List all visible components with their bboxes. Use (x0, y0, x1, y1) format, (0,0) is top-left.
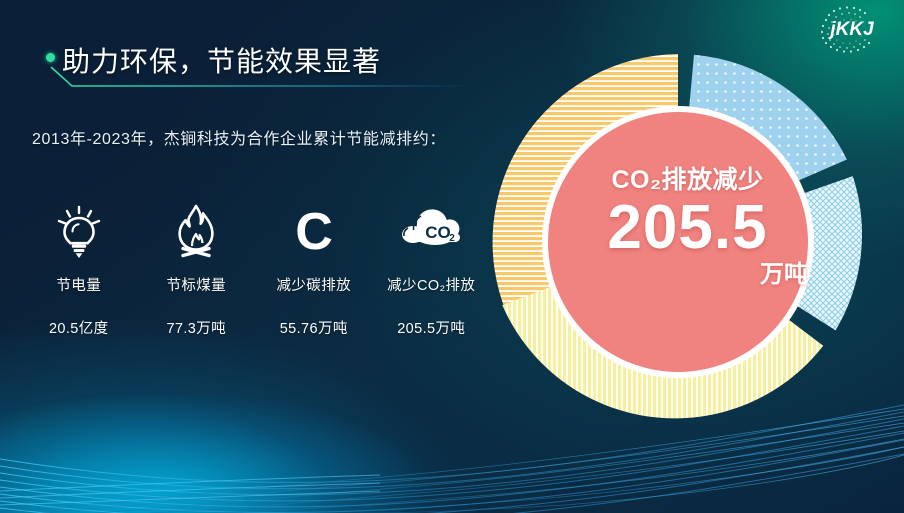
stat-item-co2-reduction: CO 2 减少CO₂排放 205.5万吨 (373, 200, 491, 338)
stat-value: 20.5亿度 (20, 317, 138, 338)
slide-canvas: jKKJ 助力环保，节能效果显著 2013年-2023年，杰锏科技为合作企业累计… (0, 0, 904, 513)
stat-value: 205.5万吨 (373, 317, 491, 338)
stat-label: 减少CO₂排放 (373, 274, 491, 295)
donut-center-disc (548, 112, 808, 372)
page-title-block: 助力环保，节能效果显著 (46, 40, 381, 80)
stat-item-carbon-reduction: C 减少碳排放 55.76万吨 (255, 200, 373, 338)
stat-value: 55.76万吨 (255, 317, 373, 338)
donut-chart (478, 42, 898, 442)
stat-label: 节电量 (20, 274, 138, 295)
subtitle-text: 2013年-2023年，杰锏科技为合作企业累计节能减排约： (32, 125, 482, 155)
stat-item-coal-saving: 节标煤量 77.3万吨 (138, 200, 256, 338)
bottom-left-glow (0, 393, 430, 513)
stat-item-power-saving: 节电量 20.5亿度 (20, 200, 138, 338)
stats-row: 节电量 20.5亿度 节标煤量 77.3万吨 C 减少碳排放 (20, 200, 490, 338)
stat-value: 77.3万吨 (138, 317, 256, 338)
flame-icon (138, 200, 256, 262)
title-bullet-dot (46, 53, 55, 62)
carbon-c-icon: C (255, 200, 373, 262)
logo-wordmark: jKKJ (827, 19, 874, 40)
lightbulb-icon (20, 200, 138, 262)
co2-cloud-icon: CO 2 (373, 200, 491, 262)
stat-label: 节标煤量 (138, 274, 256, 295)
stat-label: 减少碳排放 (255, 274, 373, 295)
svg-text:C: C (295, 203, 333, 260)
title-underline (50, 66, 470, 88)
